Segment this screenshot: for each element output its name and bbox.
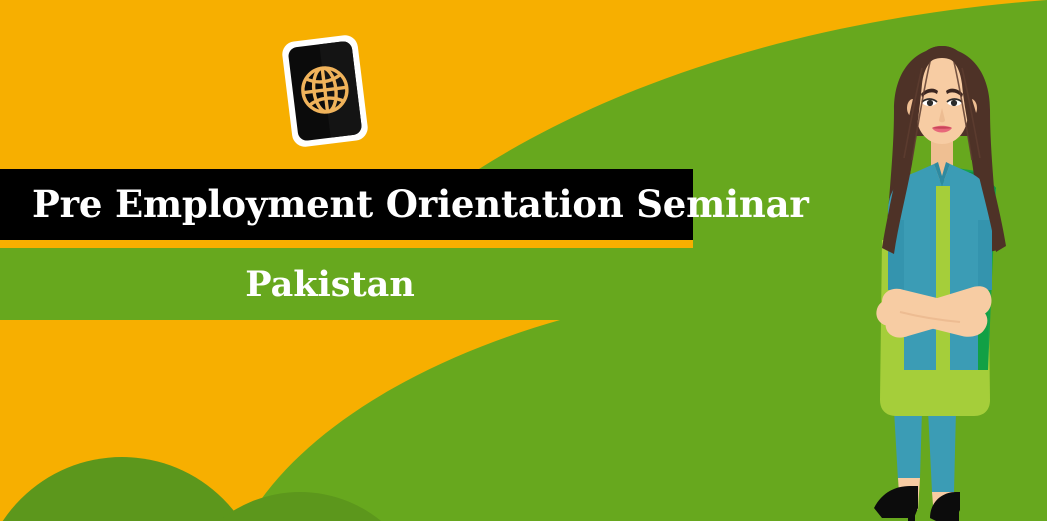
page-title: Pre Employment Orientation Seminar — [0, 186, 809, 223]
orange-separator-strip — [0, 240, 693, 248]
seminar-banner: Pre Employment Orientation Seminar Pakis… — [0, 0, 1047, 521]
passport-icon — [271, 30, 379, 152]
shoe-right-heel — [952, 506, 959, 521]
country-label: Pakistan — [245, 267, 415, 302]
shoe-left-heel — [908, 502, 915, 521]
country-label-wrap: Pakistan — [0, 248, 660, 320]
trouser-right — [928, 410, 956, 492]
trouser-left — [894, 410, 922, 480]
title-band: Pre Employment Orientation Seminar — [0, 169, 693, 240]
woman-illustration — [838, 40, 1046, 521]
